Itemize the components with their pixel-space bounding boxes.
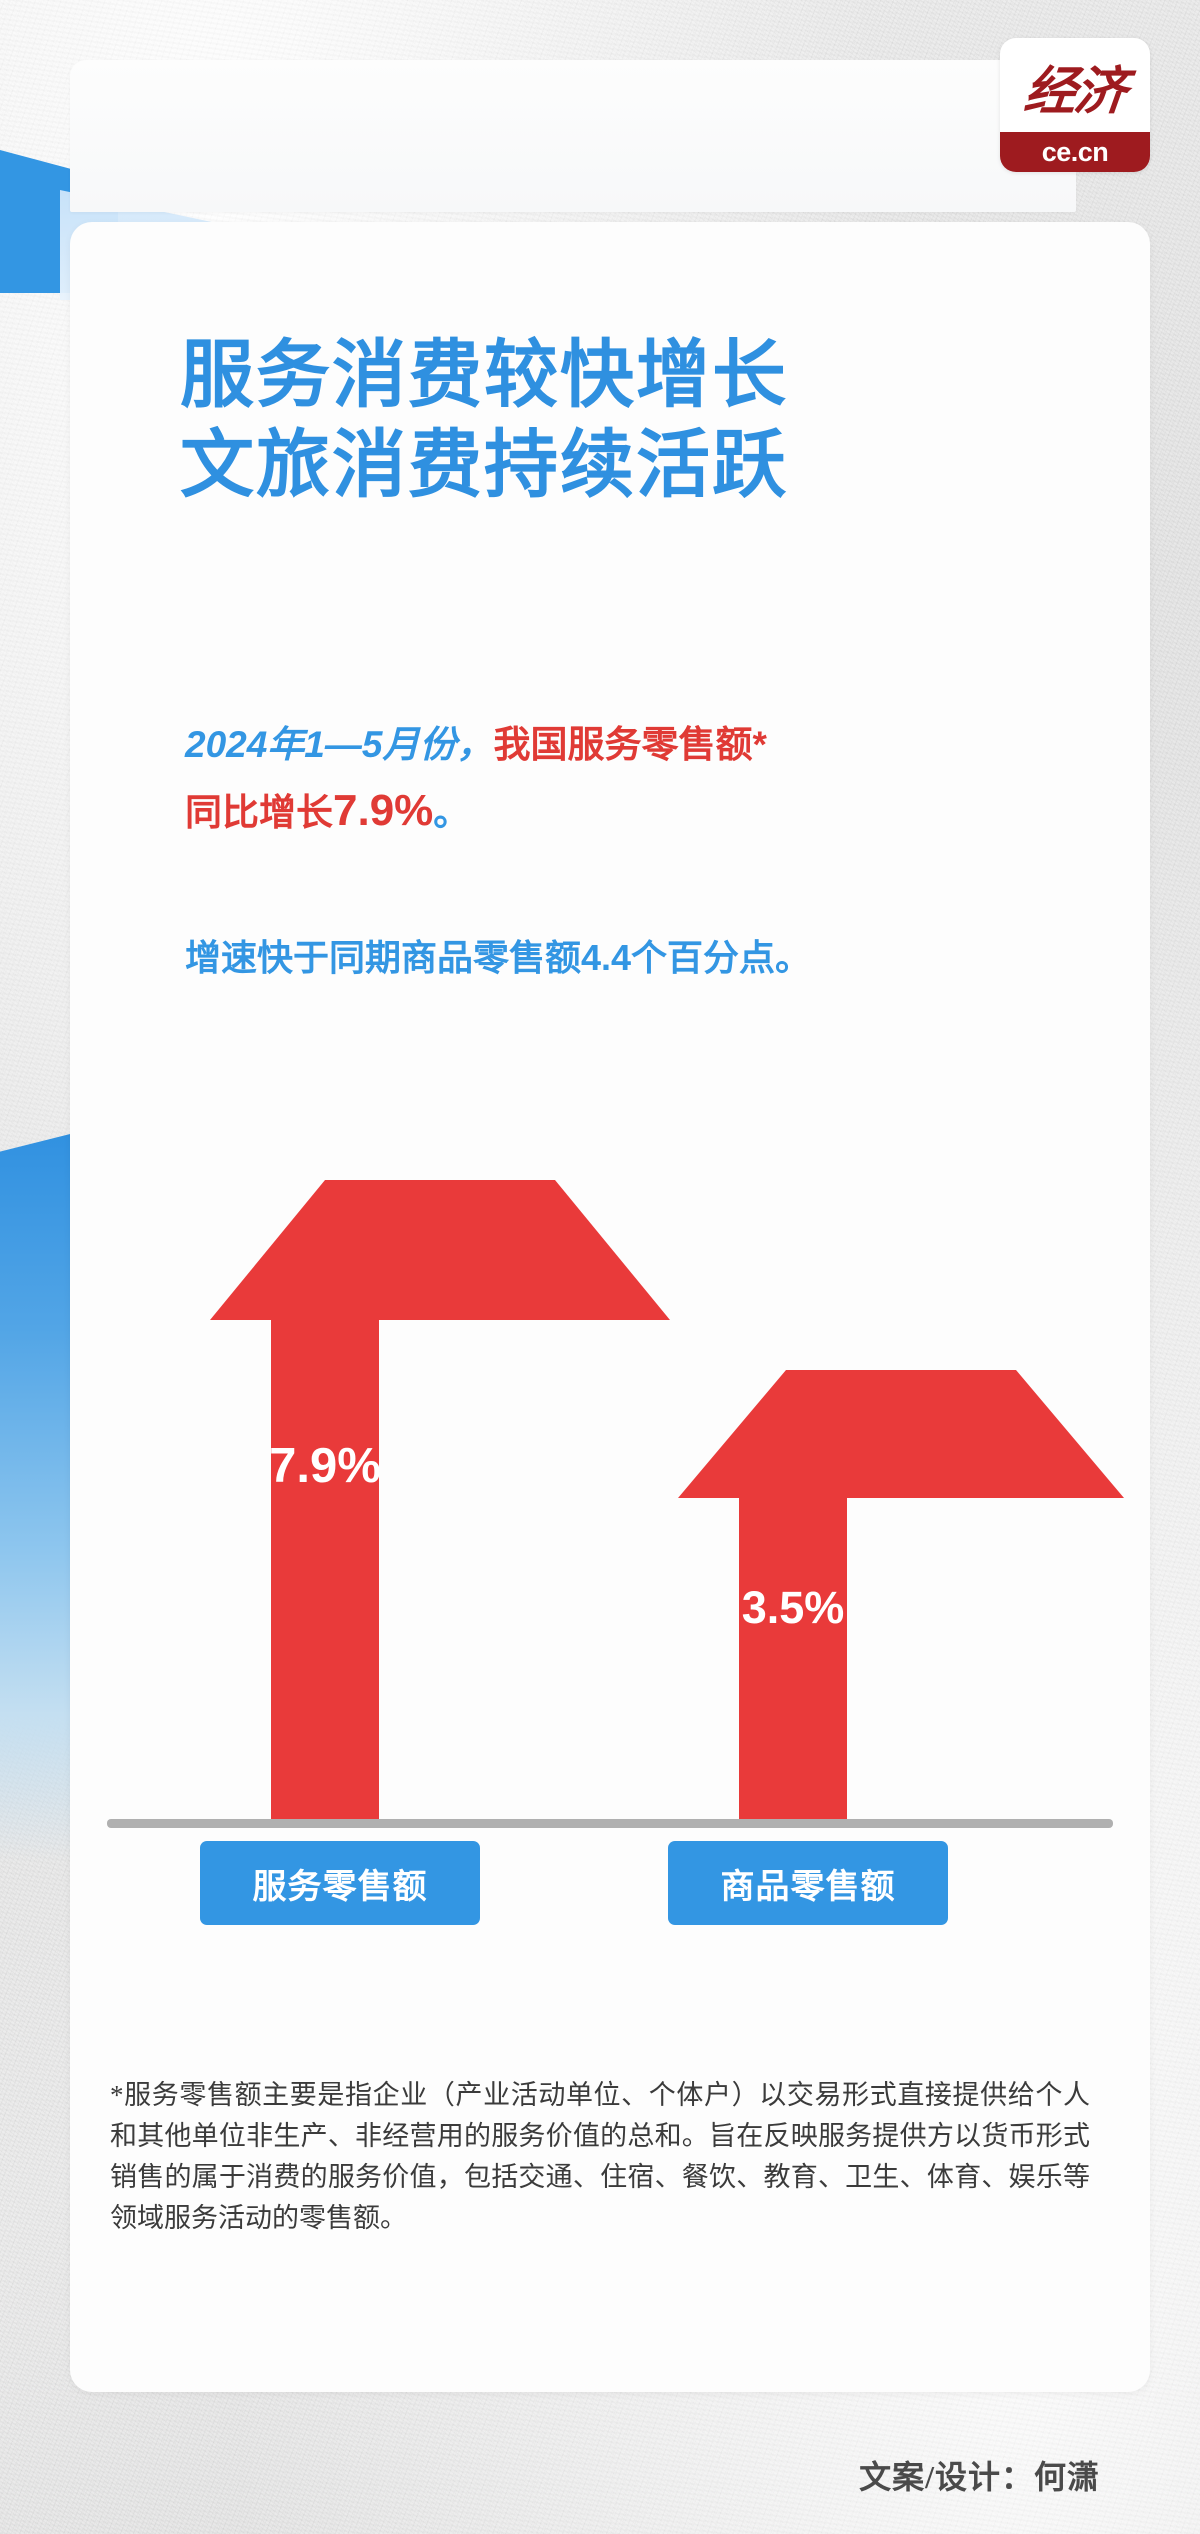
arrow-shaft <box>271 1320 379 1820</box>
footnote-text: *服务零售额主要是指企业（产业活动单位、个体户）以交易形式直接提供给个人和其他单… <box>110 2075 1090 2239</box>
arrow-shaft <box>739 1498 847 1820</box>
lead-subject: 我国服务零售额* <box>493 724 766 765</box>
lead-period: 。 <box>433 792 470 833</box>
header-card <box>70 60 1076 212</box>
lead-date: 2024年1—5月份， <box>185 724 493 765</box>
logo-calligraphy: 经济 <box>1000 38 1150 134</box>
page-title-line1: 服务消费较快增长 <box>180 330 788 420</box>
arrow-value-label: 3.5% <box>678 1582 908 1634</box>
chart-baseline <box>107 1819 1113 1828</box>
ce-cn-logo[interactable]: 经济 ce.cn <box>1000 38 1150 172</box>
page-title-line2: 文旅消费持续活跃 <box>180 420 788 510</box>
lead-verb: 同比增长 <box>185 792 333 833</box>
lead-paragraph: 2024年1—5月份，我国服务零售额* 同比增长7.9%。 <box>185 715 945 846</box>
arrow-bar-chart: 7.9% 服务零售额 3.5% 商品零售额 <box>70 1150 1150 1890</box>
arrow-service-retail: 7.9% 服务零售额 <box>210 1180 440 1820</box>
credit-line: 文案/设计：何潇 <box>859 2452 1100 2498</box>
lead-value: 7.9% <box>333 786 433 835</box>
category-label-goods-retail[interactable]: 商品零售额 <box>668 1841 948 1925</box>
comparison-note: 增速快于同期商品零售额4.4个百分点。 <box>185 930 975 986</box>
arrow-goods-retail: 3.5% 商品零售额 <box>678 1370 908 1820</box>
page-title: 服务消费较快增长 文旅消费持续活跃 <box>180 330 788 511</box>
logo-domain-band: ce.cn <box>1000 132 1150 172</box>
arrow-head-icon <box>210 1180 670 1320</box>
arrow-head-icon <box>678 1370 1124 1498</box>
category-label-service-retail[interactable]: 服务零售额 <box>200 1841 480 1925</box>
logo-domain-text: ce.cn <box>1042 137 1109 168</box>
arrow-value-label: 7.9% <box>210 1438 440 1494</box>
